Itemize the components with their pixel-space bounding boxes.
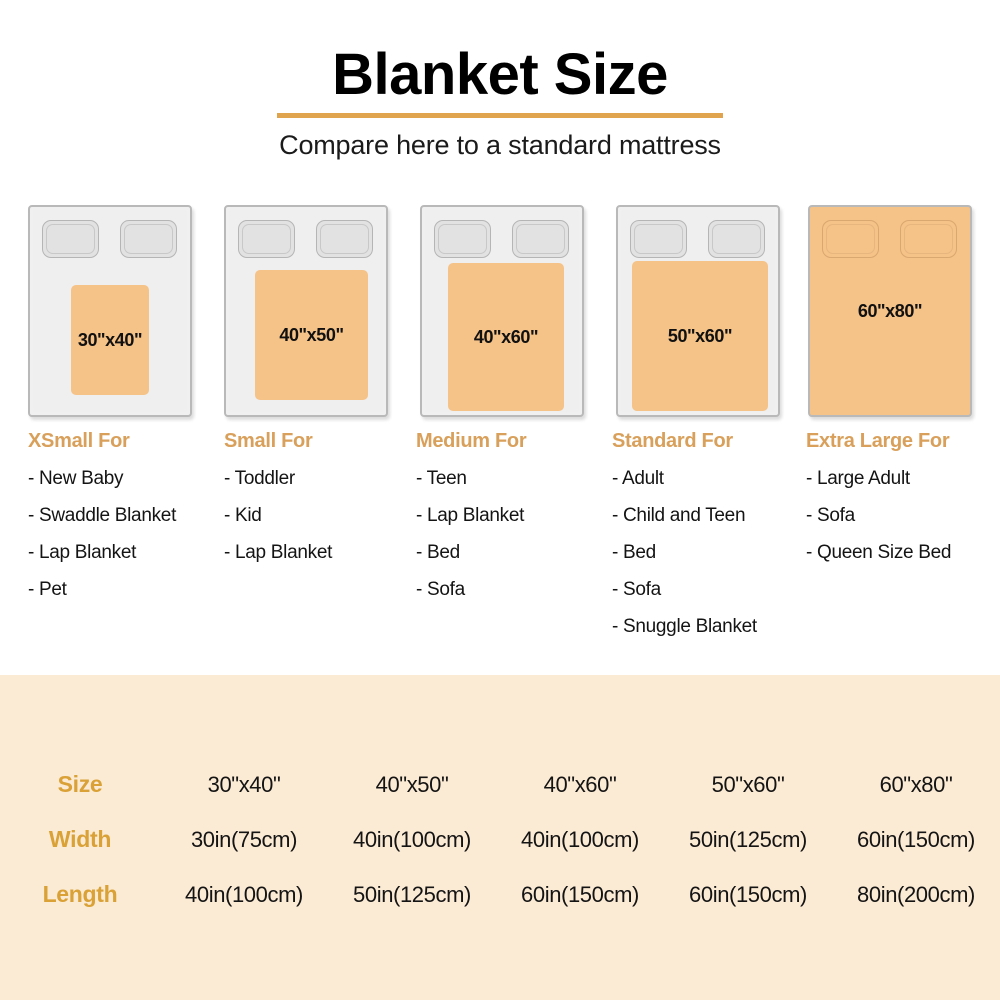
list-item: - Lap Blanket <box>224 542 332 564</box>
pillow-icon <box>316 220 373 258</box>
blanket-size-label: 40"x60" <box>474 327 538 348</box>
bed-diagram-extra-large: 60"x80" <box>808 205 972 417</box>
list-item: - Sofa <box>416 579 526 601</box>
pillow-icon <box>434 220 491 258</box>
bed-diagram-small: 40"x50" <box>224 205 388 417</box>
category-heading: Medium For <box>416 430 526 453</box>
list-item: - Toddler <box>224 468 332 490</box>
category-heading: Small For <box>224 430 332 453</box>
list-item: - Kid <box>224 505 332 527</box>
blanket-size-label: 40"x50" <box>279 325 343 346</box>
title-underline-rule <box>277 113 723 118</box>
pillow-icon <box>42 220 99 258</box>
bed-diagrams-row: 30"x40" 40"x50" 40"x60" 50"x60" 60"x <box>0 205 1000 420</box>
table-cell: 60in(150cm) <box>664 867 832 922</box>
bed-diagram-medium: 40"x60" <box>420 205 584 417</box>
table-cell: 30in(75cm) <box>160 812 328 867</box>
table-cell: 40"x60" <box>496 757 664 812</box>
table-row: Size 30"x40" 40"x50" 40"x60" 50"x60" 60"… <box>0 757 1000 812</box>
bed-diagram-standard: 50"x60" <box>616 205 780 417</box>
category-heading: XSmall For <box>28 430 176 453</box>
blanket-overlay: 40"x60" <box>448 263 564 411</box>
table-cell: 50in(125cm) <box>328 867 496 922</box>
row-header-width: Width <box>0 812 160 867</box>
list-item: - Lap Blanket <box>416 505 526 527</box>
list-item: - Queen Size Bed <box>806 542 951 564</box>
list-item: - Lap Blanket <box>28 542 176 564</box>
table-cell: 50"x60" <box>664 757 832 812</box>
list-item: - Pet <box>28 579 176 601</box>
spec-table: Size 30"x40" 40"x50" 40"x60" 50"x60" 60"… <box>0 757 1000 922</box>
list-item: - Teen <box>416 468 526 490</box>
row-header-length: Length <box>0 867 160 922</box>
pillow-icon <box>708 220 765 258</box>
list-item: - Bed <box>612 542 757 564</box>
category-heading: Standard For <box>612 430 757 453</box>
page-subtitle: Compare here to a standard mattress <box>0 130 1000 161</box>
category-heading: Extra Large For <box>806 430 951 453</box>
pillow-icon <box>512 220 569 258</box>
blanket-overlay: 50"x60" <box>632 261 768 411</box>
category-item-list: - New Baby - Swaddle Blanket - Lap Blank… <box>28 468 176 601</box>
row-header-size: Size <box>0 757 160 812</box>
list-item: - Sofa <box>806 505 951 527</box>
bed-diagram-xsmall: 30"x40" <box>28 205 192 417</box>
table-cell: 40in(100cm) <box>328 812 496 867</box>
blanket-size-label: 50"x60" <box>668 326 732 347</box>
category-item-list: - Teen - Lap Blanket - Bed - Sofa <box>416 468 526 601</box>
blanket-overlay: 30"x40" <box>71 285 149 395</box>
list-item: - Child and Teen <box>612 505 757 527</box>
list-item: - Snuggle Blanket <box>612 616 757 638</box>
pillow-icon <box>630 220 687 258</box>
category-item-list: - Adult - Child and Teen - Bed - Sofa - … <box>612 468 757 638</box>
category-column-small: Small For - Toddler - Kid - Lap Blanket <box>224 430 332 564</box>
pillow-icon <box>120 220 177 258</box>
table-cell: 50in(125cm) <box>664 812 832 867</box>
table-cell: 40"x50" <box>328 757 496 812</box>
category-column-medium: Medium For - Teen - Lap Blanket - Bed - … <box>416 430 526 601</box>
category-item-list: - Toddler - Kid - Lap Blanket <box>224 468 332 564</box>
table-row: Width 30in(75cm) 40in(100cm) 40in(100cm)… <box>0 812 1000 867</box>
table-cell: 60in(150cm) <box>496 867 664 922</box>
list-item: - New Baby <box>28 468 176 490</box>
spec-table-panel: Size 30"x40" 40"x50" 40"x60" 50"x60" 60"… <box>0 675 1000 1000</box>
category-column-extra-large: Extra Large For - Large Adult - Sofa - Q… <box>806 430 951 564</box>
list-item: - Swaddle Blanket <box>28 505 176 527</box>
list-item: - Adult <box>612 468 757 490</box>
page-title: Blanket Size <box>332 46 668 104</box>
page-header: Blanket Size Compare here to a standard … <box>0 0 1000 161</box>
table-cell: 80in(200cm) <box>832 867 1000 922</box>
blanket-overlay: 40"x50" <box>255 270 368 400</box>
category-column-standard: Standard For - Adult - Child and Teen - … <box>612 430 757 638</box>
pillow-icon <box>238 220 295 258</box>
list-item: - Large Adult <box>806 468 951 490</box>
table-cell: 40in(100cm) <box>496 812 664 867</box>
table-cell: 60in(150cm) <box>832 812 1000 867</box>
table-cell: 60"x80" <box>832 757 1000 812</box>
table-row: Length 40in(100cm) 50in(125cm) 60in(150c… <box>0 867 1000 922</box>
list-item: - Bed <box>416 542 526 564</box>
table-cell: 30"x40" <box>160 757 328 812</box>
list-item: - Sofa <box>612 579 757 601</box>
category-column-xsmall: XSmall For - New Baby - Swaddle Blanket … <box>28 430 176 601</box>
blanket-size-label: 60"x80" <box>858 301 922 322</box>
blanket-size-label: 30"x40" <box>78 330 142 351</box>
category-item-list: - Large Adult - Sofa - Queen Size Bed <box>806 468 951 564</box>
table-cell: 40in(100cm) <box>160 867 328 922</box>
blanket-overlay: 60"x80" <box>810 207 970 415</box>
